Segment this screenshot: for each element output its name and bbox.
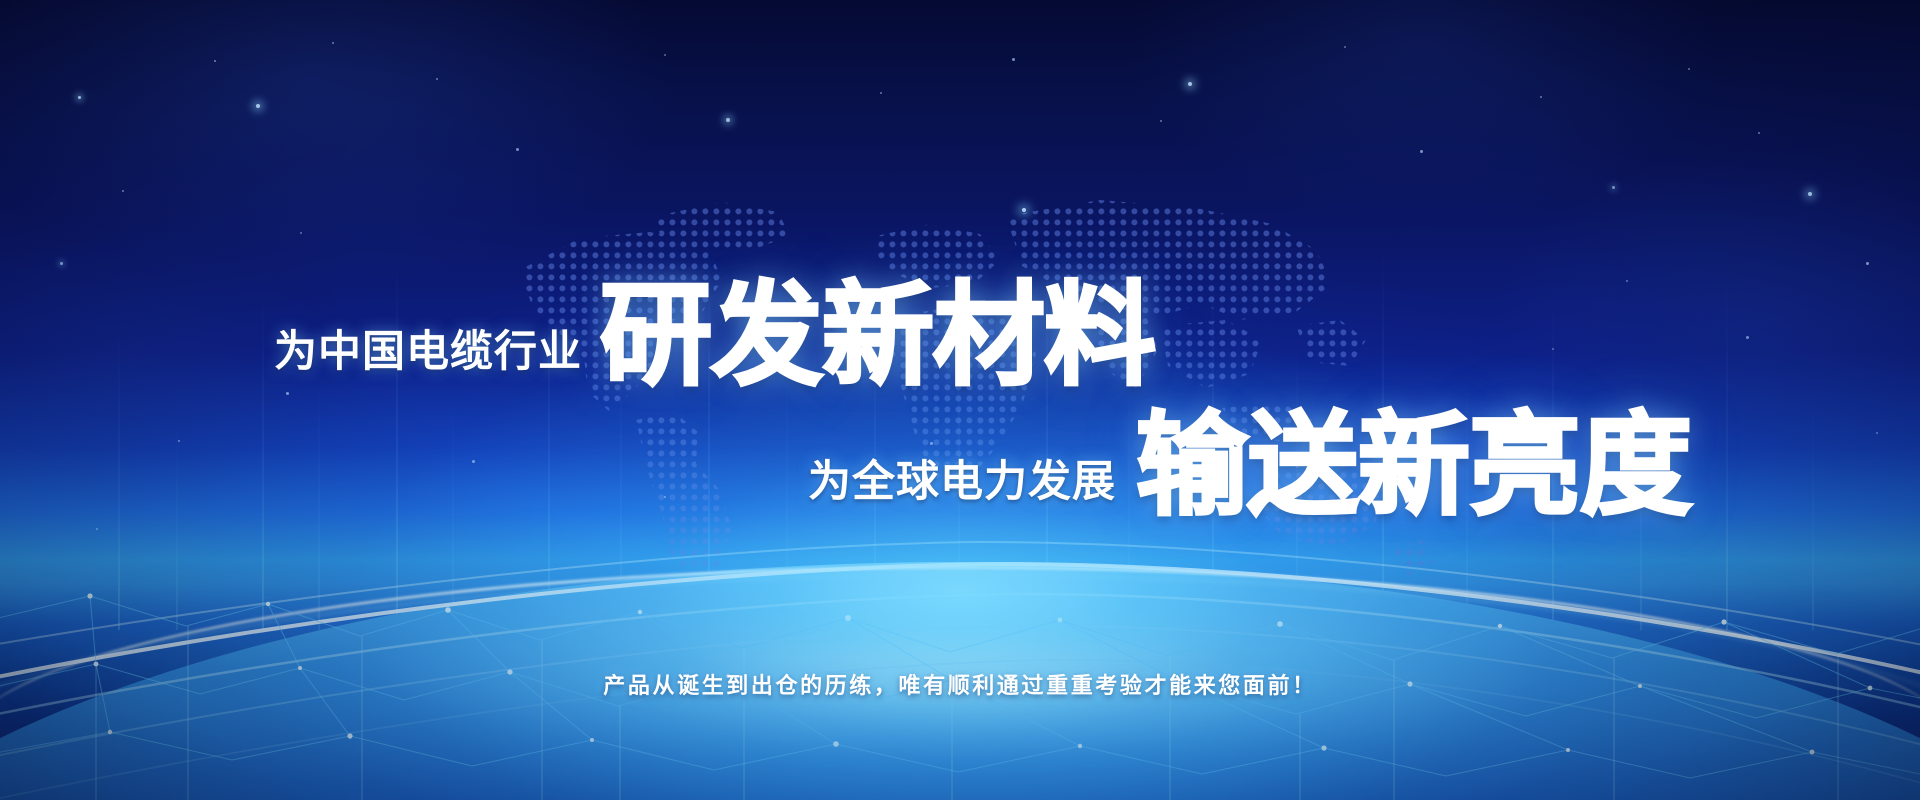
headline-sub-1: 为中国电缆行业 (274, 331, 582, 374)
headline-line-2: 为全球电力发展 输送新亮度 (808, 410, 1691, 522)
headline-line-1: 为中国电缆行业 研发新材料 (274, 280, 1155, 392)
headline-sub-2: 为全球电力发展 (808, 461, 1116, 504)
headline-main-2: 输送新亮度 (1136, 410, 1691, 522)
headline-main-1: 研发新材料 (600, 280, 1155, 392)
tagline: 产品从诞生到出仓的历练，唯有顺利通过重重考验才能来您面前！ (0, 668, 1920, 700)
hero-banner: 为中国电缆行业 研发新材料 为全球电力发展 输送新亮度 产品从诞生到出仓的历练，… (0, 0, 1920, 800)
headline-block: 为中国电缆行业 研发新材料 为全球电力发展 输送新亮度 产品从诞生到出仓的历练，… (0, 0, 1920, 800)
